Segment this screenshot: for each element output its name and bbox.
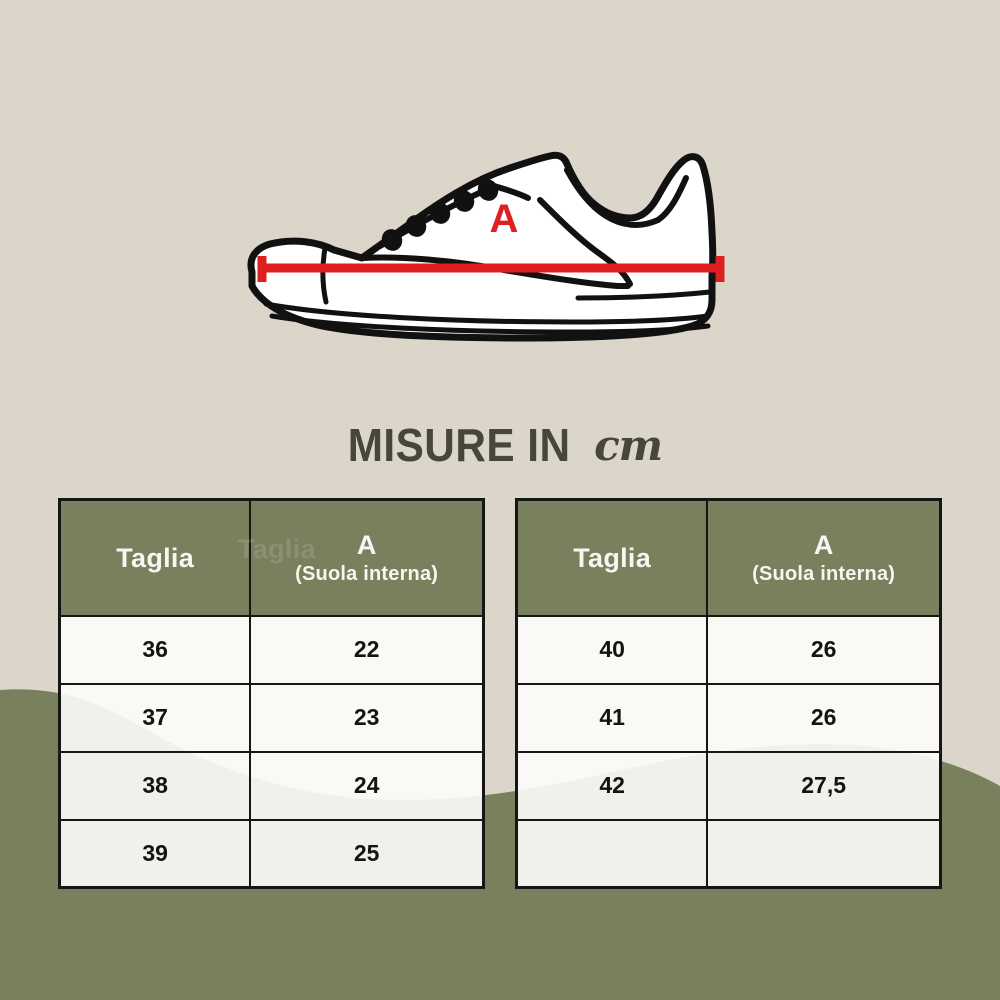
header-a-sublabel: (Suola interna) — [295, 563, 438, 585]
cell-a — [707, 820, 940, 888]
header-cell-size: Taglia — [517, 500, 708, 616]
measure-label-a: A — [490, 197, 519, 241]
cell-a: 27,5 — [707, 752, 940, 820]
title-main-text: MISURE IN — [348, 418, 571, 472]
table-row — [517, 820, 941, 888]
table-row: 40 26 — [517, 616, 941, 684]
table-row: 38 24 — [60, 752, 484, 820]
header-cell-a: A (Suola interna) — [707, 500, 940, 616]
cell-a: 26 — [707, 684, 940, 752]
header-a-label: A — [814, 530, 834, 560]
cell-size: 38 — [60, 752, 251, 820]
size-table-right: Taglia A (Suola interna) 40 26 — [515, 498, 942, 889]
cell-a: 25 — [250, 820, 483, 888]
cell-a: 26 — [707, 616, 940, 684]
size-tables-group: Taglia A (Suola interna) 36 22 — [58, 498, 942, 888]
table-row: 42 27,5 — [517, 752, 941, 820]
sneaker-illustration: A — [222, 108, 762, 348]
header-size-label: Taglia — [116, 543, 194, 573]
cell-a: 23 — [250, 684, 483, 752]
cell-size: 39 — [60, 820, 251, 888]
table-header-row: Taglia A (Suola interna) — [60, 500, 484, 616]
cell-size: 40 — [517, 616, 708, 684]
header-cell-a: A (Suola interna) — [250, 500, 483, 616]
header-size-label: Taglia — [573, 543, 651, 573]
table-header-row: Taglia A (Suola interna) — [517, 500, 941, 616]
header-a-sublabel: (Suola interna) — [752, 563, 895, 585]
size-table-left: Taglia A (Suola interna) 36 22 — [58, 498, 485, 889]
cell-a: 22 — [250, 616, 483, 684]
header-a-label: A — [357, 530, 377, 560]
cell-a: 24 — [250, 752, 483, 820]
table-row: 39 25 — [60, 820, 484, 888]
table-row: 41 26 — [517, 684, 941, 752]
cell-size — [517, 820, 708, 888]
cell-size: 36 — [60, 616, 251, 684]
table-row: 36 22 — [60, 616, 484, 684]
size-chart-canvas: A MISURE IN cm Taglia A (S — [0, 0, 1000, 1000]
table-row: 37 23 — [60, 684, 484, 752]
cell-size: 41 — [517, 684, 708, 752]
header-cell-size: Taglia — [60, 500, 251, 616]
page-title: MISURE IN cm — [0, 410, 1000, 480]
title-unit-text: cm — [594, 421, 662, 470]
cell-size: 42 — [517, 752, 708, 820]
cell-size: 37 — [60, 684, 251, 752]
